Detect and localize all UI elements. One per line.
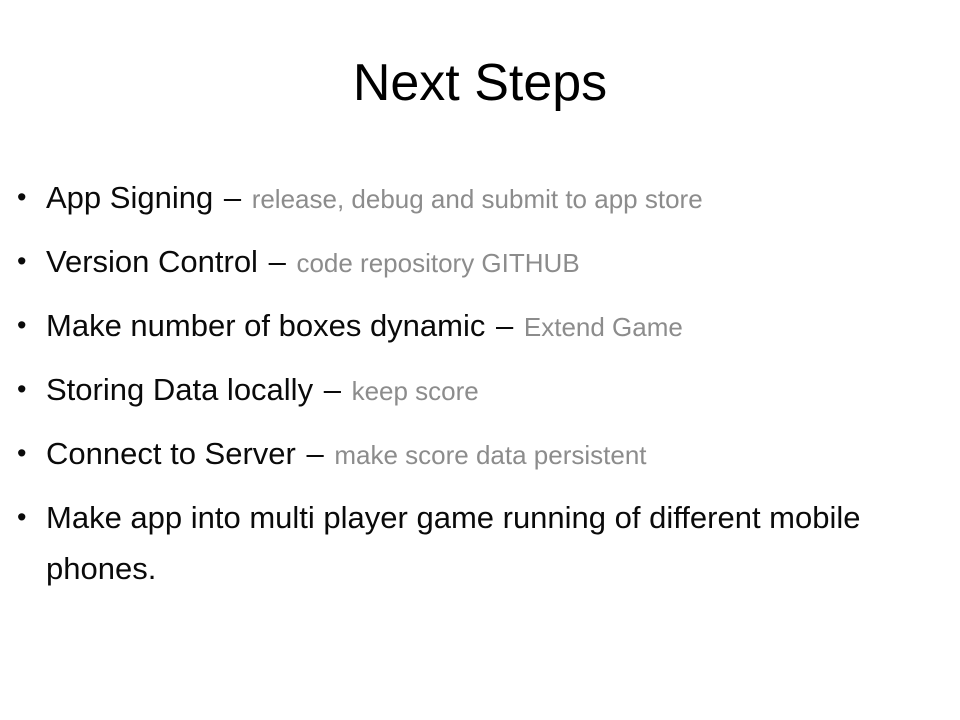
list-item: • Make number of boxes dynamic – Extend … [14, 300, 926, 353]
list-item: • Version Control – code repository GITH… [14, 236, 926, 289]
bullet-dash: – [304, 436, 325, 471]
bullet-point-icon: • [17, 300, 31, 351]
bullet-dash: – [267, 244, 288, 279]
bullet-secondary-text: make score data persistent [334, 440, 646, 470]
bullet-primary-text: App Signing [46, 180, 213, 215]
bullet-primary-text: Storing Data locally [46, 372, 313, 407]
bullet-list: • App Signing – release, debug and submi… [14, 172, 926, 594]
bullet-dash: – [322, 372, 343, 407]
bullet-secondary-text: code repository GITHUB [296, 248, 579, 278]
bullet-point-icon: • [17, 492, 31, 543]
bullet-point-icon: • [17, 172, 31, 223]
bullet-primary-text: Version Control [46, 244, 258, 279]
bullet-point-icon: • [17, 428, 31, 479]
list-item: • App Signing – release, debug and submi… [14, 172, 926, 225]
bullet-secondary-text: release, debug and submit to app store [252, 184, 703, 214]
list-item: • Connect to Server – make score data pe… [14, 428, 926, 481]
bullet-secondary-text: keep score [352, 376, 479, 406]
bullet-primary-text: Make number of boxes dynamic [46, 308, 485, 343]
page-title: Next Steps [0, 52, 960, 114]
bullet-dash: – [222, 180, 243, 215]
bullet-primary-text: Connect to Server [46, 436, 296, 471]
bullet-point-icon: • [17, 236, 31, 287]
bullet-point-icon: • [17, 364, 31, 415]
bullet-dash [156, 551, 160, 586]
bullet-primary-text: Make app into multi player game running … [46, 500, 861, 586]
list-item: • Make app into multi player game runnin… [14, 492, 926, 594]
presentation-slide: Next Steps • App Signing – release, debu… [0, 0, 960, 720]
list-item: • Storing Data locally – keep score [14, 364, 926, 417]
bullet-dash: – [494, 308, 515, 343]
bullet-secondary-text: Extend Game [524, 312, 683, 342]
